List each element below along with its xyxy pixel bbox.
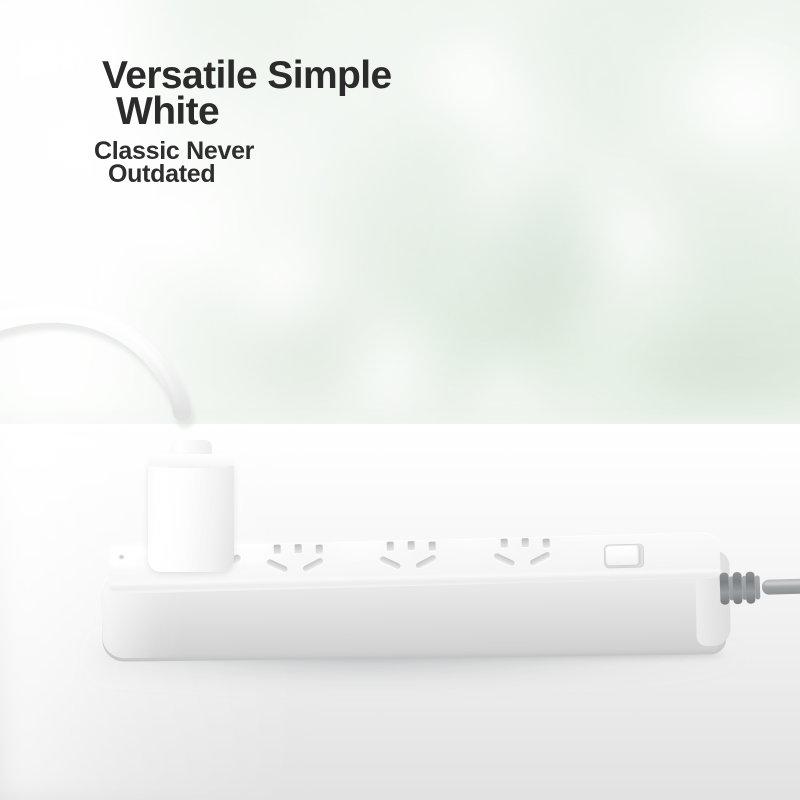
socket-slot-vertical: [501, 539, 508, 548]
socket-slot-vertical: [522, 538, 529, 547]
output-cable: [716, 566, 800, 614]
socket-slot-vertical: [429, 542, 436, 551]
output-cable-highlight: [764, 580, 800, 585]
headline-line-2: White: [102, 94, 522, 130]
plug-body-highlight: [154, 464, 180, 564]
socket-slot-vertical: [295, 544, 302, 553]
page-subtitle: Classic NeverOutdated: [94, 140, 454, 186]
page-title: Versatile SimpleWhite: [102, 58, 522, 130]
plug-adapter: [146, 438, 238, 574]
switch-shadow: [638, 546, 643, 565]
product-marketing-image: Versatile SimpleWhite Classic NeverOutda…: [0, 0, 800, 800]
socket-slot-vertical: [316, 545, 323, 554]
socket-4[interactable]: [495, 537, 574, 573]
headline-block: Versatile SimpleWhite: [102, 58, 522, 130]
socket-slot-vertical: [543, 539, 550, 548]
socket-slot-vertical: [387, 542, 394, 551]
socket-slot-vertical: [408, 541, 415, 550]
power-switch[interactable]: [604, 544, 645, 569]
boot-groove: [755, 575, 761, 599]
subheadline-line-2: Outdated: [94, 163, 454, 186]
switch-rocker: [606, 546, 639, 566]
led-indicator: [119, 555, 124, 559]
socket-3[interactable]: [381, 540, 460, 576]
subheadline-block: Classic NeverOutdated: [94, 140, 454, 186]
strain-relief-boot: [719, 571, 764, 605]
power-cable: [0, 296, 220, 456]
socket-2[interactable]: [268, 543, 347, 579]
socket-slot-vertical: [274, 545, 281, 554]
